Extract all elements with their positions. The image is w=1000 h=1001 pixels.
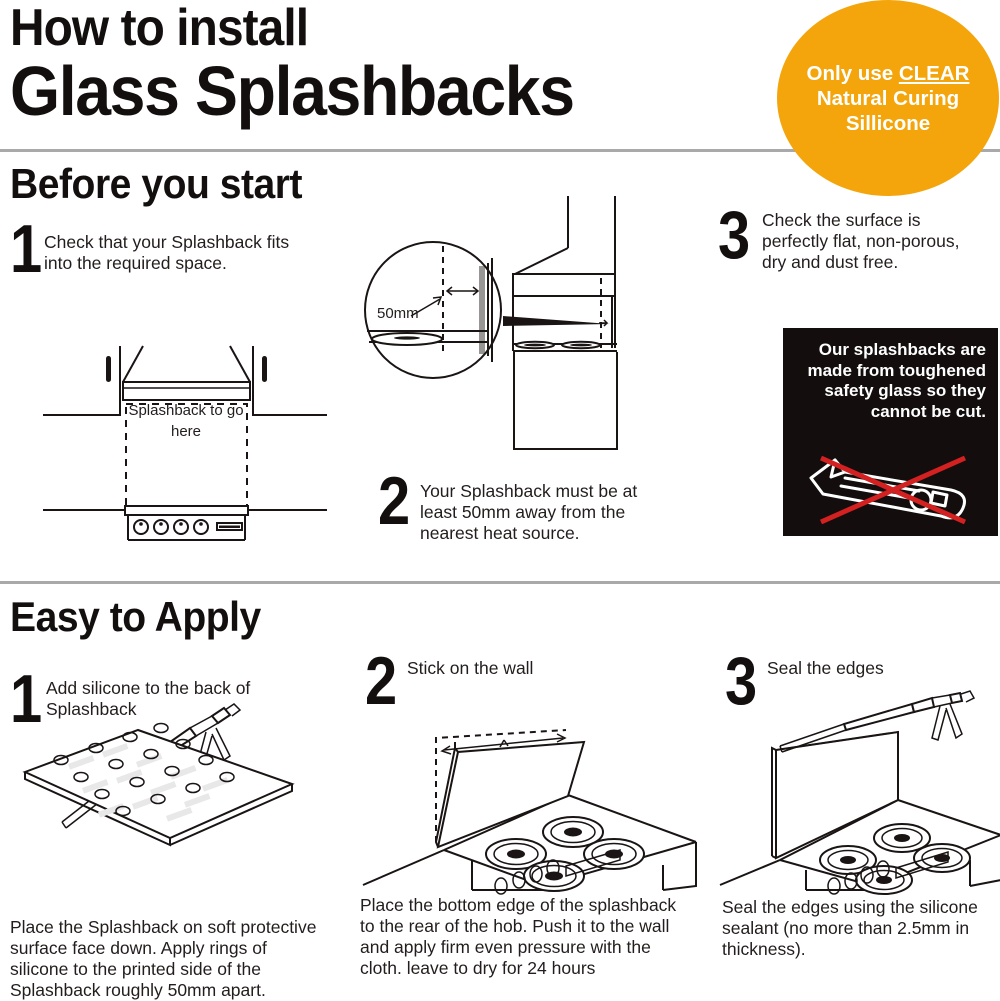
- step-text-apply-3: Seal the edges: [767, 650, 987, 679]
- badge-line-1-prefix: Only use: [807, 62, 899, 85]
- badge-line-2: Natural Curing: [817, 86, 959, 111]
- badge-line-3: Sillicone: [846, 111, 930, 136]
- step-number-before-1: 1: [10, 218, 36, 280]
- title-line-2: Glass Splashbacks: [10, 56, 574, 126]
- diagram-label-50mm: 50mm: [377, 305, 419, 322]
- badge-line-1: Only use CLEAR: [807, 61, 970, 86]
- diagram-seal-the-edges: [718, 690, 1000, 890]
- section-heading-easy-to-apply: Easy to Apply: [10, 596, 261, 638]
- diagram-heat-source-distance: [355, 196, 685, 466]
- diagram-label-splashback-to-go-here: Splashback to go here: [126, 400, 246, 442]
- instruction-sheet: How to install Glass Splashbacks Only us…: [0, 0, 1000, 1000]
- warning-panel-text: Our splashbacks are made from toughened …: [795, 340, 986, 422]
- caption-apply-3: Seal the edges using the silicone sealan…: [722, 897, 997, 960]
- step-number-before-2: 2: [378, 470, 410, 532]
- caption-apply-2: Place the bottom edge of the splashback …: [360, 895, 680, 979]
- badge-line-1-emphasis: CLEAR: [899, 62, 970, 85]
- caption-apply-1: Place the Splashback on soft protective …: [10, 917, 330, 1001]
- step-before-1: 1 Check that your Splashback fits into t…: [10, 218, 330, 280]
- section-divider-middle: [0, 581, 1000, 584]
- step-before-3: 3 Check the surface is perfectly flat, n…: [718, 204, 998, 273]
- document-title: How to install Glass Splashbacks: [10, 2, 623, 126]
- diagram-apply-silicone-rings: [20, 700, 310, 890]
- step-text-before-3: Check the surface is perfectly flat, non…: [762, 204, 982, 273]
- section-heading-before-you-start: Before you start: [10, 163, 302, 205]
- step-number-before-3: 3: [718, 204, 752, 266]
- clear-silicone-badge: Only use CLEAR Natural Curing Sillicone: [777, 0, 999, 196]
- step-before-2: 2 Your Splashback must be at least 50mm …: [378, 470, 688, 544]
- title-line-1: How to install: [10, 2, 574, 54]
- warning-panel-cannot-be-cut: Our splashbacks are made from toughened …: [783, 328, 998, 536]
- step-text-apply-2: Stick on the wall: [407, 650, 657, 679]
- diagram-stick-on-wall: [358, 690, 698, 890]
- step-text-before-1: Check that your Splashback fits into the…: [44, 218, 314, 274]
- step-text-before-2: Your Splashback must be at least 50mm aw…: [420, 470, 678, 544]
- utility-knife-crossed-out-icon: [801, 450, 981, 528]
